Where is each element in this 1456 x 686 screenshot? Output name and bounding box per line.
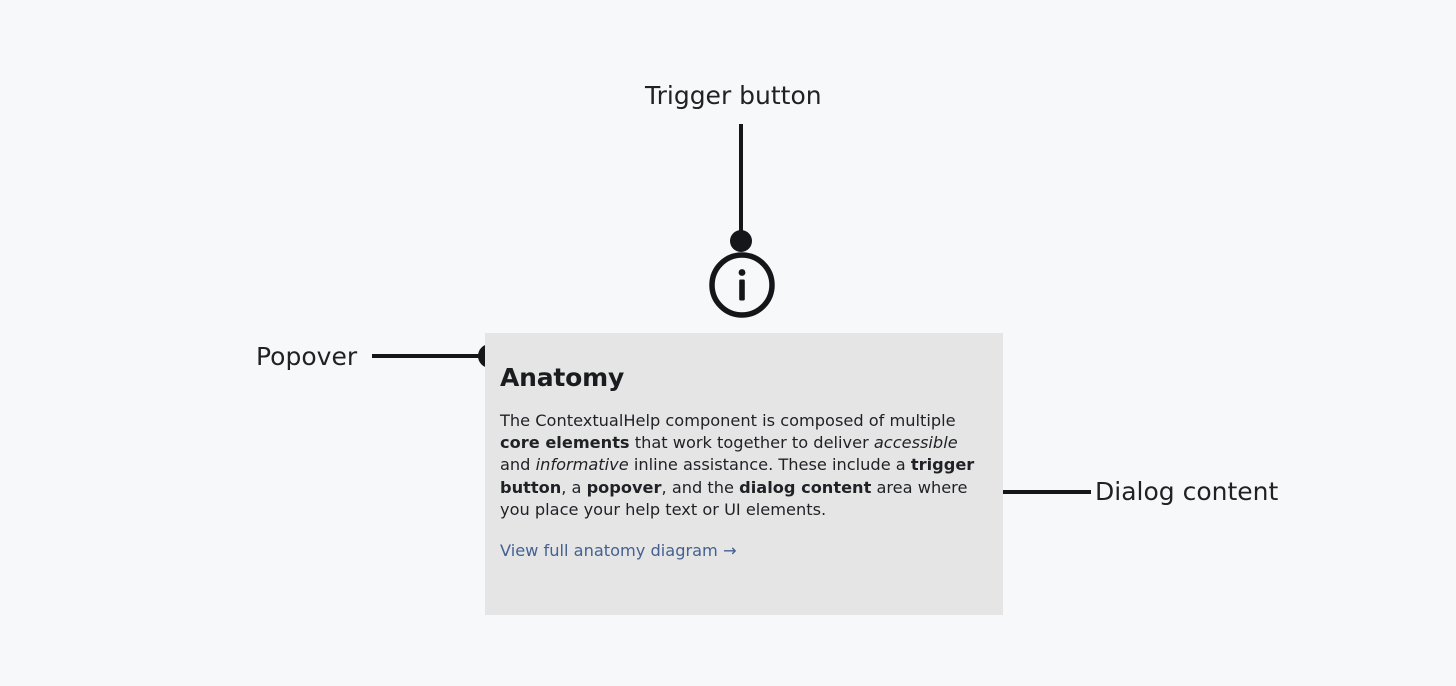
callout-label-dialog-content: Dialog content	[1095, 479, 1278, 504]
anatomy-diagram-canvas: Trigger button Popover Dialog content An…	[0, 0, 1456, 686]
callout-label-popover: Popover	[256, 344, 357, 369]
leader-line-popover	[372, 354, 492, 358]
leader-line-trigger-button	[739, 124, 743, 244]
dialog-content-text: The ContextualHelp component is composed…	[500, 410, 981, 521]
callout-label-trigger-button: Trigger button	[645, 83, 822, 108]
info-circle-icon	[709, 252, 775, 318]
leader-dot-trigger-button	[730, 230, 752, 252]
view-full-anatomy-diagram-link[interactable]: View full anatomy diagram →	[500, 541, 737, 560]
popover-title: Anatomy	[500, 364, 981, 393]
trigger-button[interactable]	[709, 252, 775, 318]
popover-panel: Anatomy The ContextualHelp component is …	[485, 333, 1003, 615]
